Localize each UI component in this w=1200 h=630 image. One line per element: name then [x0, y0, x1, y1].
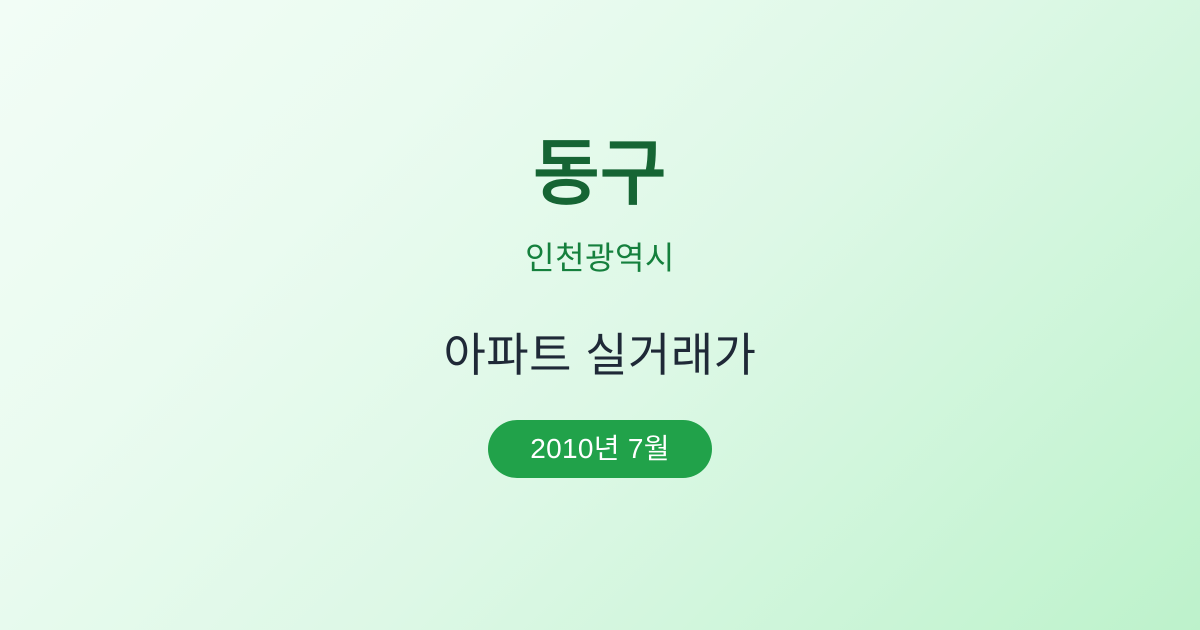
content-stack: 동구 인천광역시 아파트 실거래가 2010년 7월	[0, 138, 1200, 478]
region-parent-name: 인천광역시	[525, 242, 675, 274]
region-name: 동구	[533, 138, 666, 210]
period-badge: 2010년 7월	[488, 420, 712, 478]
og-card: 동구 인천광역시 아파트 실거래가 2010년 7월	[0, 0, 1200, 630]
page-title: 아파트 실거래가	[443, 332, 756, 378]
